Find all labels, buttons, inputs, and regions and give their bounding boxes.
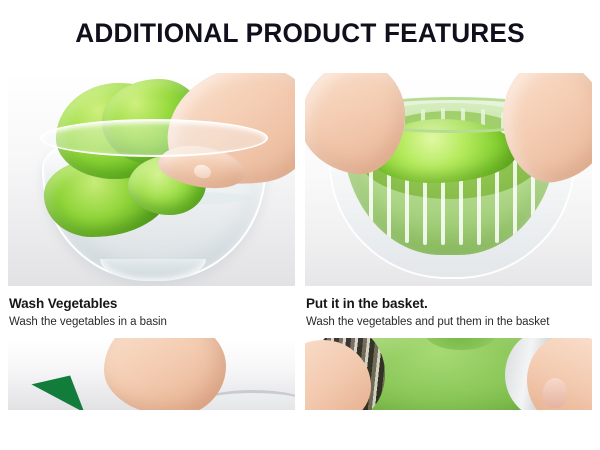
feature-image-wash-vegetables	[8, 73, 295, 286]
thumbnail-shape	[543, 378, 567, 408]
feature-caption: Put it in the basket. Wash the vegetable…	[305, 286, 592, 330]
fist-hand-shape	[104, 338, 226, 410]
feature-caption: Wash Vegetables Wash the vegetables in a…	[8, 286, 295, 330]
product-feature-page: ADDITIONAL PRODUCT FEATURES Wash Vegetab…	[0, 0, 600, 450]
feature-image-press-knob	[8, 338, 295, 410]
feature-card-wash-vegetables[interactable]: Wash Vegetables Wash the vegetables in a…	[8, 73, 295, 330]
feature-description: Wash the vegetables and put them in the …	[306, 315, 556, 330]
features-grid: Wash Vegetables Wash the vegetables in a…	[8, 73, 592, 410]
feature-card-put-in-basket[interactable]: Put it in the basket. Wash the vegetable…	[305, 73, 592, 330]
feature-image-lid-closeup	[305, 338, 592, 410]
feature-title: Put it in the basket.	[306, 295, 592, 312]
feature-image-put-in-basket	[305, 73, 592, 286]
feature-description: Wash the vegetables in a basin	[9, 315, 259, 330]
feature-card-press-knob[interactable]	[8, 338, 295, 410]
feature-card-lid-closeup[interactable]	[305, 338, 592, 410]
feature-title: Wash Vegetables	[9, 295, 295, 312]
basket-slot	[513, 157, 517, 241]
page-title: ADDITIONAL PRODUCT FEATURES	[9, 16, 591, 50]
bowl-rim-shape	[40, 119, 268, 157]
basket-slot	[369, 163, 373, 239]
